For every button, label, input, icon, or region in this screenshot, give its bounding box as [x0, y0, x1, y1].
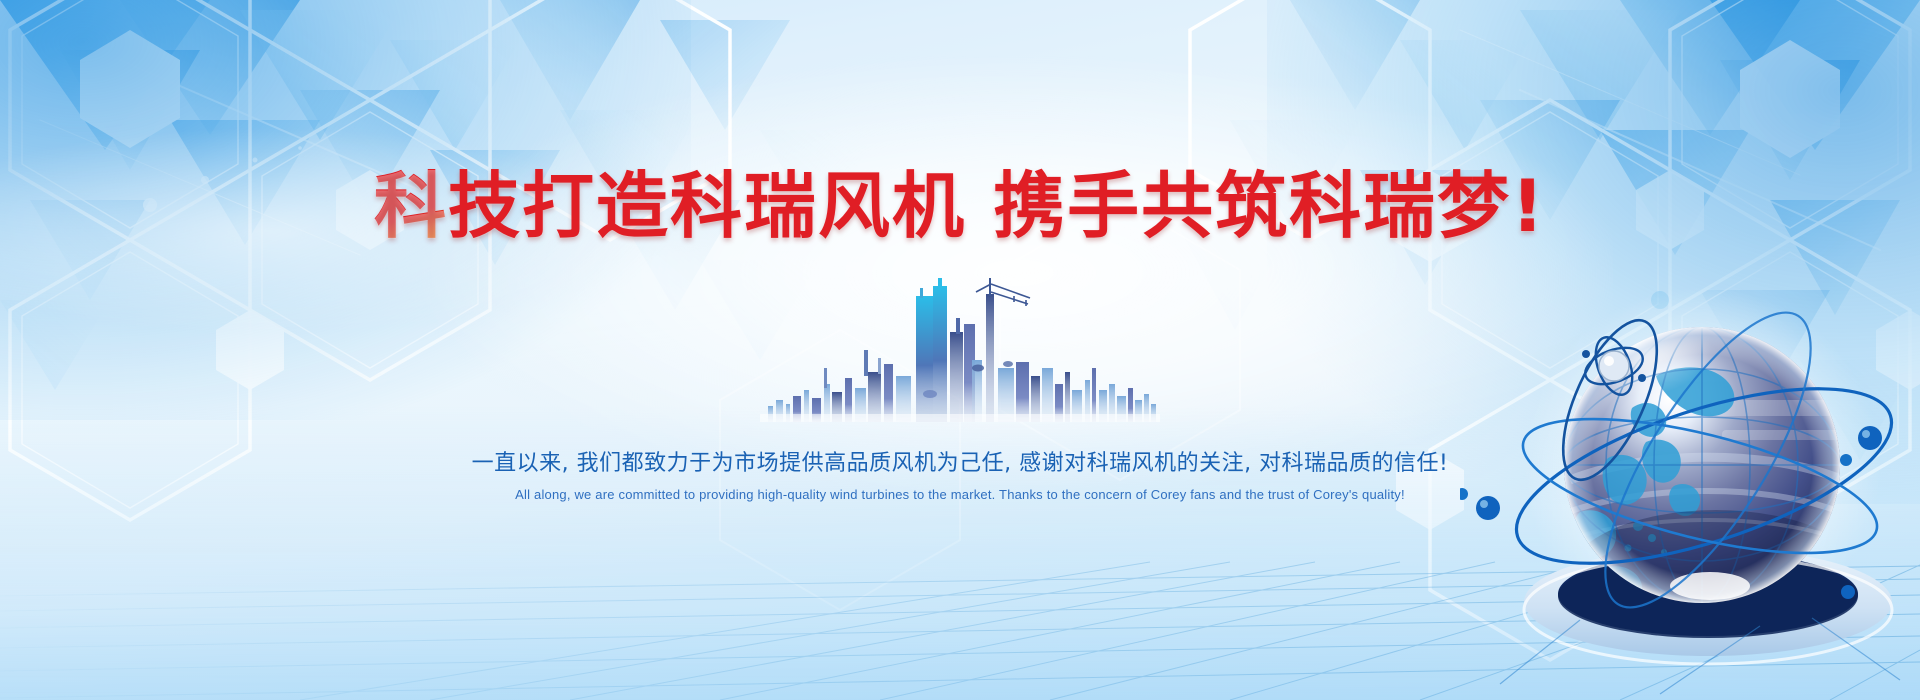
banner-headline: 科技打造科瑞风机 携手共筑科瑞梦!: [0, 170, 1920, 242]
headline-rest: 技打造科瑞风机 携手共筑科瑞梦!: [448, 164, 1546, 248]
glass-globe-graphic: [1460, 280, 1920, 700]
city-skyline-graphic: [760, 272, 1160, 422]
headline-highlight-char: 科: [374, 164, 448, 248]
hero-banner: 科技打造科瑞风机 携手共筑科瑞梦! 一直以来, 我们都致力于为市场提供高品质风机…: [0, 0, 1920, 700]
